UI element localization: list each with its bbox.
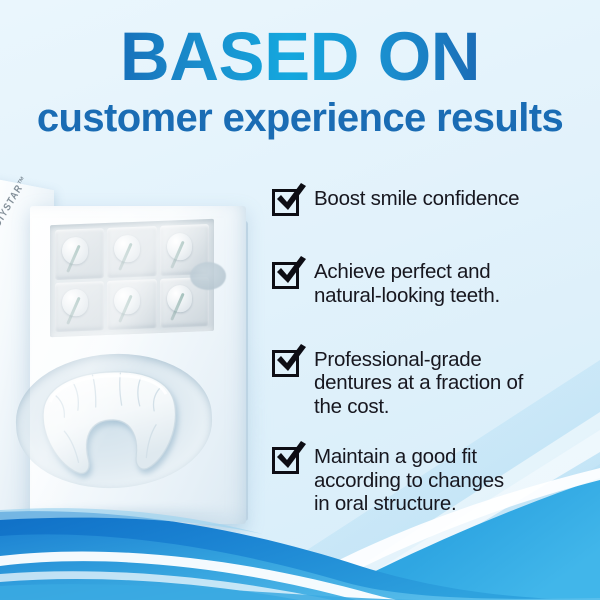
list-item: Achieve perfect and natural-looking teet…: [272, 259, 594, 308]
list-item-line: Professional-grade: [314, 348, 523, 372]
list-item-line: in oral structure.: [314, 492, 504, 516]
blister-pack: [55, 224, 209, 332]
brand-label: DIYSTAR™: [0, 173, 31, 229]
page-title: BASED ON: [0, 22, 600, 92]
checkbox-checked-icon: [272, 259, 302, 289]
page-subtitle: customer experience results: [0, 96, 600, 141]
list-item-line: Achieve perfect and: [314, 260, 500, 284]
checkbox-checked-icon: [272, 347, 302, 377]
blister-cell: [55, 281, 104, 332]
list-item-line: the cost.: [314, 395, 523, 419]
list-item-text: Boost smile confidence: [314, 186, 519, 211]
headline-block: BASED ON customer experience results: [0, 22, 600, 141]
blister-cell: [107, 226, 156, 277]
list-item-line: Boost smile confidence: [314, 187, 519, 211]
checkbox-checked-icon: [272, 444, 302, 474]
list-item-text: Professional-grade dentures at a fractio…: [314, 347, 523, 419]
list-item: Maintain a good fit according to changes…: [272, 444, 594, 516]
list-item: Boost smile confidence: [272, 186, 594, 216]
list-item: Professional-grade dentures at a fractio…: [272, 347, 594, 419]
checkbox-checked-icon: [272, 186, 302, 216]
list-item-text: Achieve perfect and natural-looking teet…: [314, 259, 500, 308]
product-image: DIYSTAR™: [0, 178, 262, 550]
denture-arch-icon: [30, 365, 189, 485]
benefits-checklist: Boost smile confidence Achieve perfect a…: [272, 186, 594, 516]
tray-thumb-indent: [190, 262, 226, 290]
list-item-text: Maintain a good fit according to changes…: [314, 444, 504, 516]
list-item-line: dentures at a fraction of: [314, 371, 523, 395]
blister-cell: [55, 228, 104, 279]
list-item-line: Maintain a good fit: [314, 445, 504, 469]
promo-banner: BASED ON customer experience results DIY…: [0, 0, 600, 600]
blister-cell: [107, 279, 156, 330]
list-item-line: according to changes: [314, 469, 504, 493]
box-floor-shadow: [12, 508, 248, 544]
list-item-line: natural-looking teeth.: [314, 284, 500, 308]
